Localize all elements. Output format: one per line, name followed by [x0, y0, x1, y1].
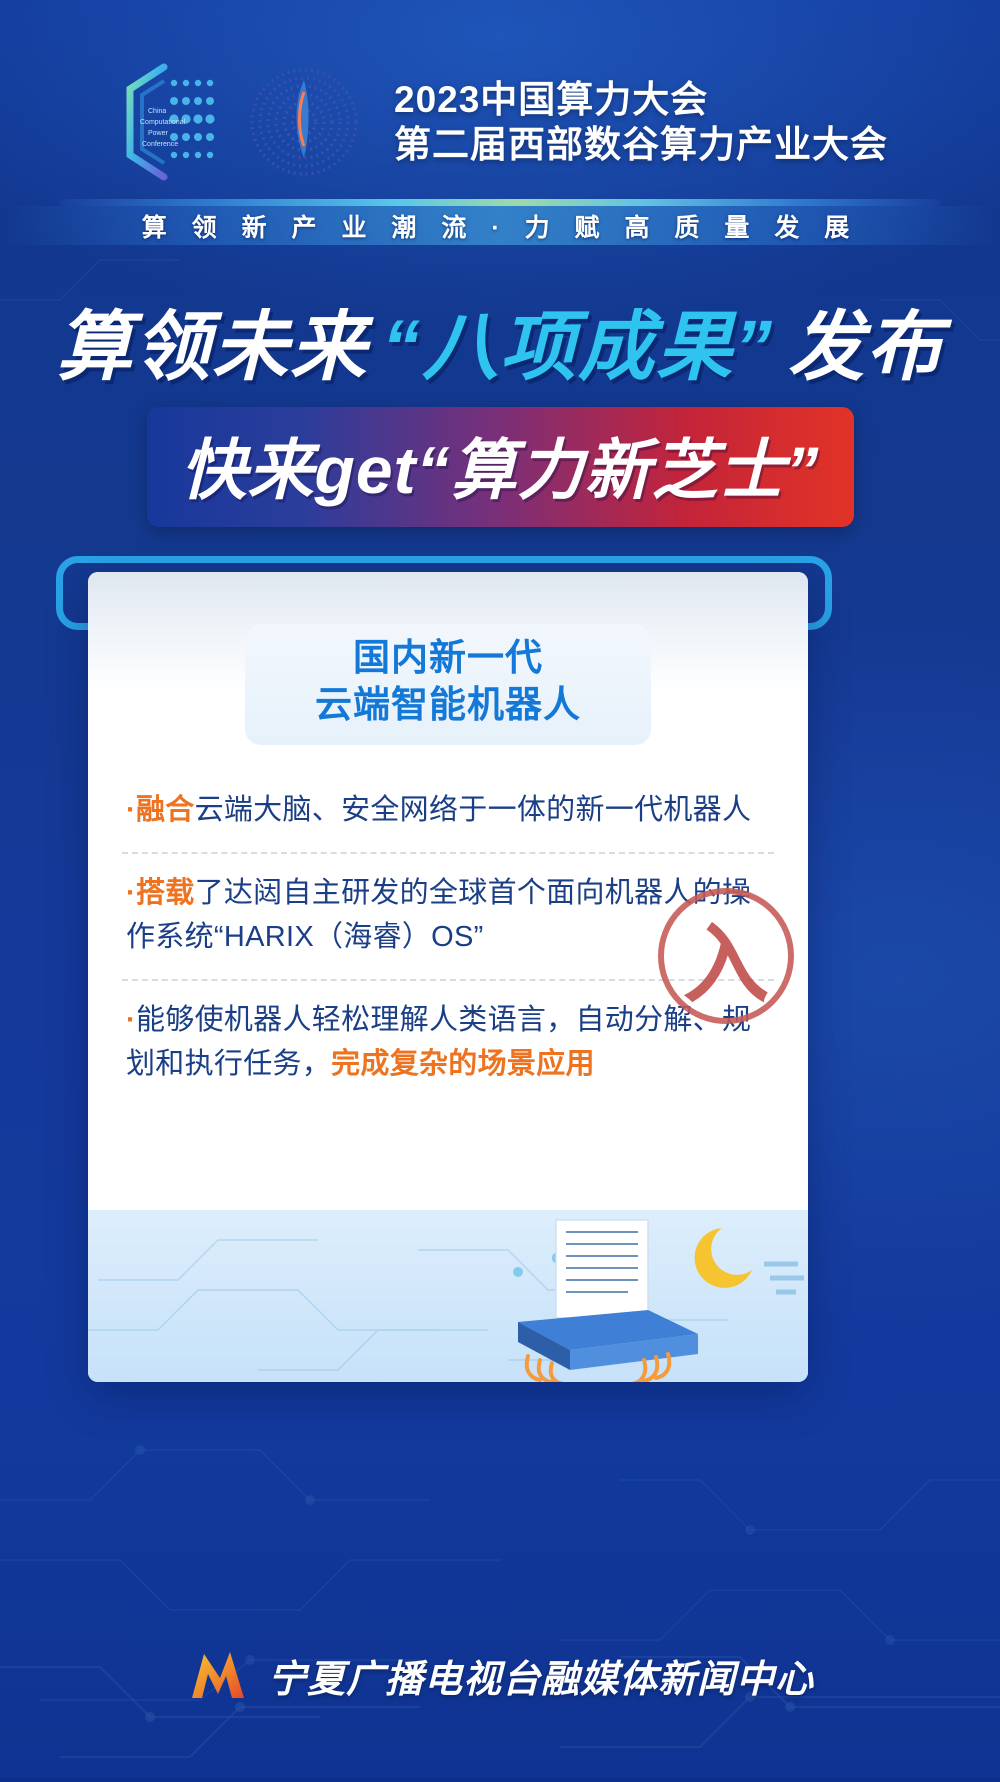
headline-part-1: 算领未来: [56, 285, 368, 395]
bullet-marker: ·: [126, 794, 136, 826]
list-item: ·融合云端大脑、安全网络于一体的新一代机器人: [122, 771, 774, 853]
headline-part-3: 发布: [788, 285, 944, 395]
poster-footer: 宁夏广播电视台融媒体新闻中心: [0, 1635, 1000, 1715]
bullet-tail-highlight: 完成复杂的场景应用: [331, 1048, 595, 1080]
logo-text-line-3: Power: [148, 130, 169, 137]
bullet-highlight: 融合: [136, 794, 195, 826]
broadcaster-logo-icon: [186, 1644, 252, 1706]
conference-title-line2: 第二届西部数谷算力产业大会: [394, 124, 888, 165]
stamp-text: 入: [683, 894, 769, 1019]
headline-banner: 快来get“算力新芝士”: [147, 407, 854, 527]
logo-text-line-4: Conference: [142, 141, 178, 148]
bullet-text: 云端大脑、安全网络于一体的新一代机器人: [195, 794, 752, 826]
bullet-text: 了达闼自主研发的全球首个面向机器人的操作系统“HARIX（海睿）OS”: [126, 877, 751, 953]
logo-text-line-2: Computational: [140, 119, 186, 126]
slogan-bar: 算 领 新 产 业 潮 流 · 力 赋 高 质 量 发 展: [0, 199, 1000, 245]
card-title-line-2: 云端智能机器人: [245, 681, 651, 728]
logo-text-line-1: China: [148, 108, 166, 115]
conference-title-line1: 2023中国算力大会: [394, 79, 888, 120]
approval-stamp-icon: 入: [658, 888, 794, 1024]
card-body: 国内新一代 云端智能机器人 ·融合云端大脑、安全网络于一体的新一代机器人 ·搭载…: [88, 572, 808, 1106]
header-title-block: 2023中国算力大会 第二届西部数谷算力产业大会: [394, 79, 888, 166]
headline-line-2-wrap: 快来get“算力新芝士”: [0, 407, 1000, 527]
slogan-gradient-rule: [60, 199, 940, 206]
slogan-text: 算 领 新 产 业 潮 流 · 力 赋 高 质 量 发 展: [0, 206, 1000, 245]
footer-organization-name: 宁夏广播电视台融媒体新闻中心: [268, 1648, 814, 1703]
bullet-highlight: 搭载: [136, 877, 195, 909]
radial-fan-logo-icon: [244, 62, 364, 182]
headline-part-2-emphasis: “八项成果”: [382, 285, 774, 395]
bullet-marker: ·: [126, 877, 136, 909]
bullet-marker: ·: [126, 1004, 136, 1036]
headline-line-2: 快来get“算力新芝士”: [181, 417, 820, 513]
achievement-card: 国内新一代 云端智能机器人 ·融合云端大脑、安全网络于一体的新一代机器人 ·搭载…: [88, 572, 808, 1382]
poster-header: China Computational Power Conference: [0, 52, 1000, 192]
headline-line-1: 算领未来 “八项成果” 发布: [0, 285, 1000, 395]
main-headline: 算领未来 “八项成果” 发布 快来get“算力新芝士”: [0, 285, 1000, 527]
card-illustration: [88, 1210, 808, 1382]
card-title-pill: 国内新一代 云端智能机器人: [245, 624, 651, 745]
card-title-line-1: 国内新一代: [245, 634, 651, 681]
conference-hex-logo-icon: China Computational Power Conference: [112, 57, 222, 187]
